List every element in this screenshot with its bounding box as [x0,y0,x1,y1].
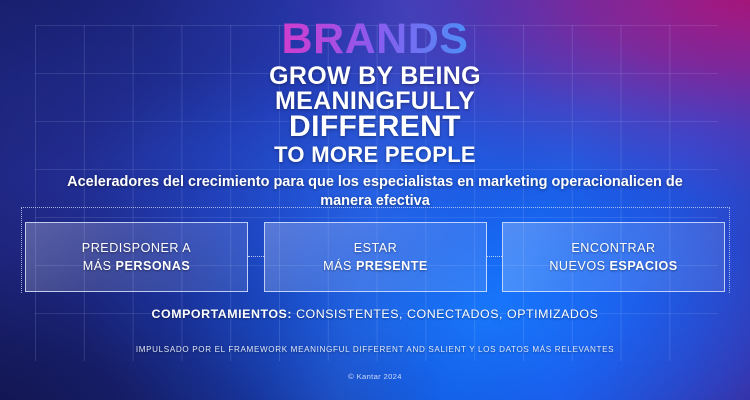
pillar-line-1: ESTAR [354,241,398,255]
pillar-card-text: ENCONTRAR NUEVOS ESPACIOS [549,239,677,276]
copyright-text: © Kantar 2024 [0,372,750,381]
pillar-connector-2 [487,256,502,257]
pillar-card-text: ESTAR MÁS PRESENTE [323,239,428,276]
pillar-connector-1 [248,256,264,257]
behaviours-values: CONSISTENTES, CONECTADOS, OPTIMIZADOS [296,307,598,321]
pillar-line-2-emphasis: PRESENTE [356,259,428,273]
slide-content: BRANDS GROW BY BEING MEANINGFULLY DIFFER… [0,0,750,400]
pillar-line-1: ENCONTRAR [571,241,655,255]
subtitle-text: Aceleradores del crecimiento para que lo… [60,173,690,211]
framework-note: IMPULSADO POR EL FRAMEWORK MEANINGFUL DI… [0,345,750,354]
behaviours-row: COMPORTAMIENTOS: CONSISTENTES, CONECTADO… [0,307,750,321]
pillar-line-2-prefix: MÁS [323,259,356,273]
pillar-card-encontrar[interactable]: ENCONTRAR NUEVOS ESPACIOS [502,222,725,292]
behaviours-label: COMPORTAMIENTOS: [152,307,293,321]
pillar-line-2-prefix: NUEVOS [549,259,609,273]
pillar-line-2-prefix: MÁS [83,259,116,273]
headline-line-3: DIFFERENT [0,112,750,142]
page-title: BRANDS [0,18,750,61]
headline-line-4: TO MORE PEOPLE [0,144,750,166]
pillar-card-estar[interactable]: ESTAR MÁS PRESENTE [264,222,487,292]
pillar-line-2-emphasis: ESPACIOS [610,259,678,273]
pillars-group: PREDISPONER A MÁS PERSONAS ESTAR MÁS PRE… [25,222,725,292]
pillar-card-predisponer[interactable]: PREDISPONER A MÁS PERSONAS [25,222,248,292]
headline-line-1: GROW BY BEING [0,64,750,89]
pillar-line-2-emphasis: PERSONAS [116,259,191,273]
brand-growth-slide: BRANDS GROW BY BEING MEANINGFULLY DIFFER… [0,0,750,400]
pillar-card-text: PREDISPONER A MÁS PERSONAS [82,239,191,276]
pillar-line-1: PREDISPONER A [82,241,191,255]
